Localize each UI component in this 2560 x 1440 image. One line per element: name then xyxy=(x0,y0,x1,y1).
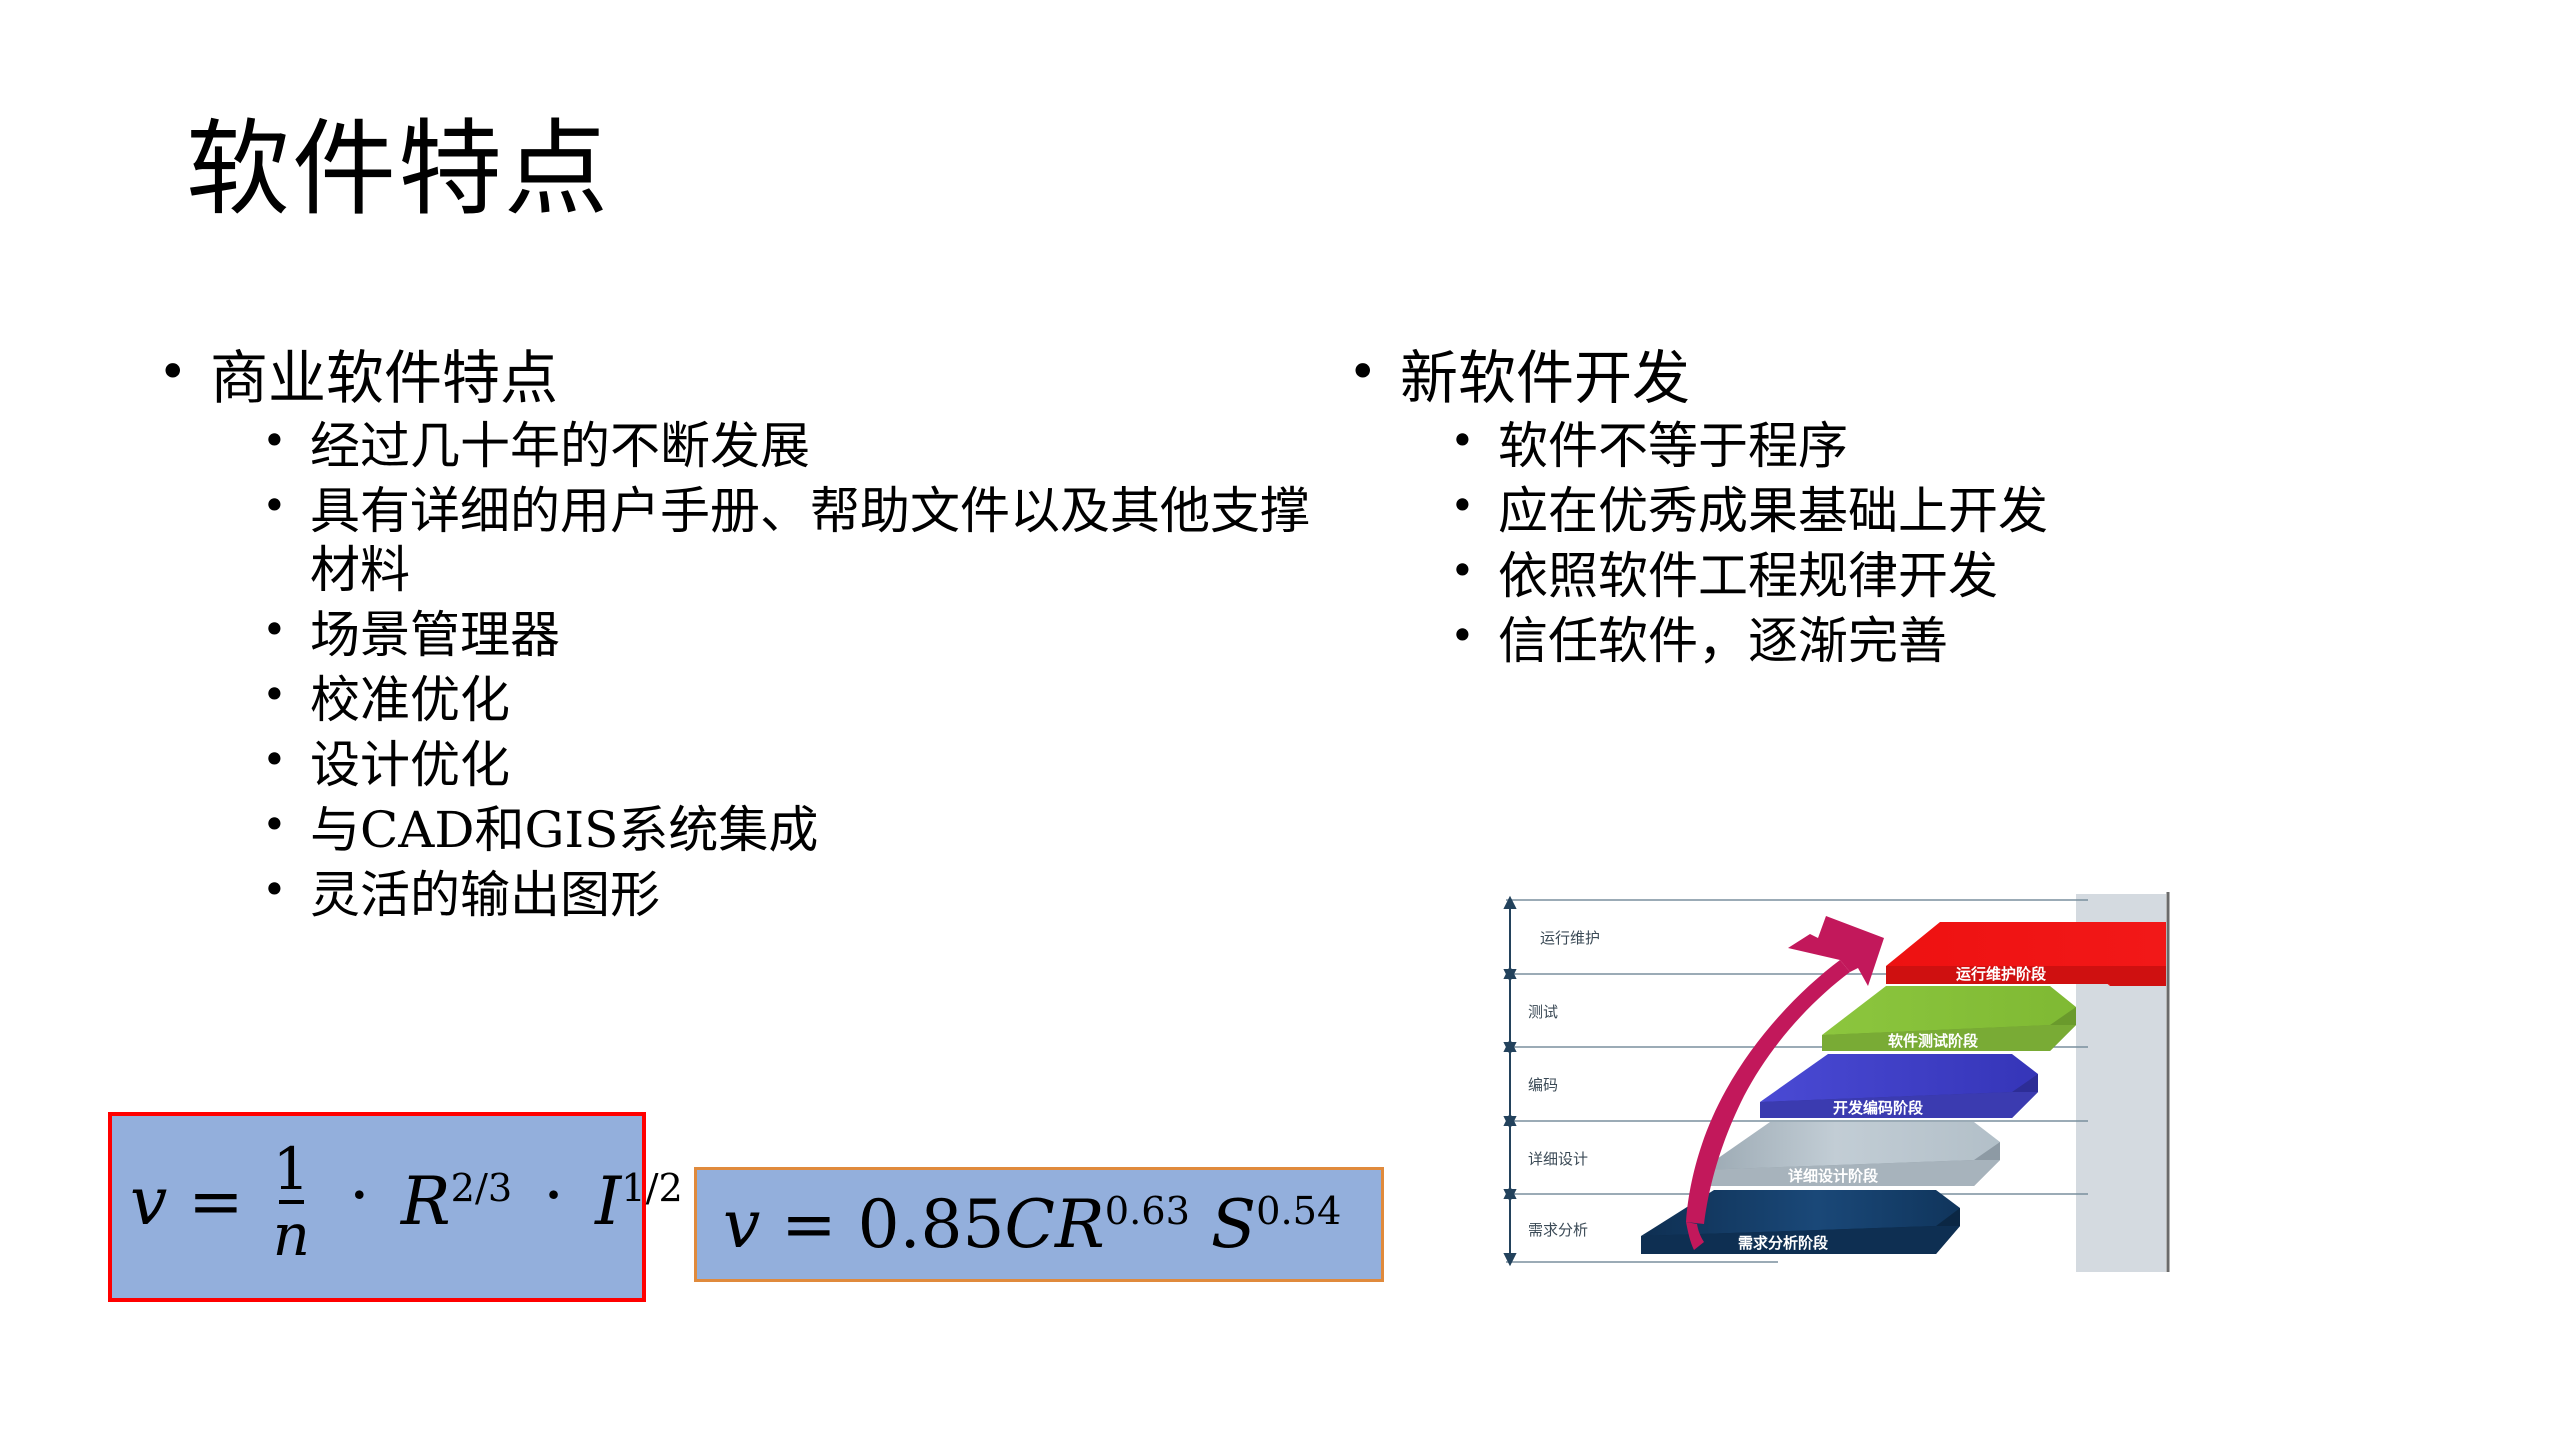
right-bullet-list: 新软件开发 软件不等于程序 应在优秀成果基础上开发 依照软件工程规律开发 信任软… xyxy=(1340,345,2340,671)
manning-v: v xyxy=(130,1163,167,1240)
stage-slab-detail-design: 详细设计阶段 xyxy=(1701,1122,2000,1186)
right-heading-bullet: 新软件开发 软件不等于程序 应在优秀成果基础上开发 依照软件工程规律开发 信任软… xyxy=(1340,345,2340,671)
manning-R: R xyxy=(401,1163,451,1240)
axis-label-1: 测试 xyxy=(1528,1003,1558,1021)
list-item: 信任软件，逐渐完善 xyxy=(1440,612,2340,671)
list-item: 灵活的输出图形 xyxy=(252,866,1330,925)
hazen-R-exponent: 0.63 xyxy=(1105,1189,1190,1234)
axis-label-0: 运行维护 xyxy=(1540,929,1600,947)
list-item: 场景管理器 xyxy=(252,606,1330,665)
stage-slab-maintenance: 运行维护阶段 xyxy=(1886,922,2166,986)
list-item: 具有详细的用户手册、帮助文件以及其他支撑材料 xyxy=(252,482,1330,600)
stage-label-requirements: 需求分析阶段 xyxy=(1738,1234,1828,1252)
manning-equals: = xyxy=(188,1163,243,1240)
list-item: 经过几十年的不断发展 xyxy=(252,417,1330,476)
manning-denominator: n xyxy=(273,1206,310,1265)
hazen-S: S xyxy=(1211,1186,1256,1263)
left-sub-bullet-list: 经过几十年的不断发展 具有详细的用户手册、帮助文件以及其他支撑材料 场景管理器 … xyxy=(252,417,1330,925)
hazen-v: v xyxy=(723,1186,760,1263)
manning-dot-2: · xyxy=(543,1157,564,1234)
hazen-formula-expression: v = 0.85CR0.63 S0.54 xyxy=(723,1186,1341,1263)
hazen-williams-formula-box: v = 0.85CR0.63 S0.54 xyxy=(694,1167,1384,1282)
page-title: 软件特点 xyxy=(186,112,610,226)
list-item: 依照软件工程规律开发 xyxy=(1440,547,2340,606)
left-content-column: 商业软件特点 经过几十年的不断发展 具有详细的用户手册、帮助文件以及其他支撑材料… xyxy=(150,345,1330,927)
stage-slab-coding: 开发编码阶段 xyxy=(1760,1054,2038,1118)
right-heading-label: 新软件开发 xyxy=(1400,345,2340,411)
stage-label-testing: 软件测试阶段 xyxy=(1888,1032,1978,1050)
manning-I-exponent: 1/2 xyxy=(621,1166,683,1211)
manning-formula-box: v = 1 n · R2/3 · I1/2 xyxy=(108,1112,646,1302)
manning-R-exponent: 2/3 xyxy=(451,1166,513,1211)
manning-I: I xyxy=(595,1163,621,1240)
left-heading-label: 商业软件特点 xyxy=(210,345,1330,411)
hazen-R: R xyxy=(1055,1186,1105,1263)
list-item: 设计优化 xyxy=(252,736,1330,795)
list-item: 应在优秀成果基础上开发 xyxy=(1440,482,2340,541)
hazen-S-exponent: 0.54 xyxy=(1256,1189,1341,1234)
axis-label-3: 详细设计 xyxy=(1528,1150,1588,1168)
list-item: 软件不等于程序 xyxy=(1440,417,2340,476)
list-item: 校准优化 xyxy=(252,671,1330,730)
manning-numerator: 1 xyxy=(273,1141,310,1198)
left-heading-bullet: 商业软件特点 经过几十年的不断发展 具有详细的用户手册、帮助文件以及其他支撑材料… xyxy=(150,345,1330,925)
manning-fraction: 1 n xyxy=(273,1141,310,1265)
diagram-axis-labels: 运行维护 测试 编码 详细设计 需求分析 xyxy=(1528,929,1600,1239)
stage-label-coding: 开发编码阶段 xyxy=(1833,1099,1923,1117)
hazen-equals: = xyxy=(781,1186,836,1263)
hazen-C: C xyxy=(1005,1186,1056,1263)
diagram-measure-axis xyxy=(1505,898,1515,1264)
list-item: 与CAD和GIS系统集成 xyxy=(252,801,1330,860)
hazen-coefficient: 0.85 xyxy=(858,1186,1005,1263)
software-lifecycle-diagram-image: 运行维护 测试 编码 详细设计 需求分析 需求分析阶段 详细设计阶段 开发编码阶… xyxy=(1488,890,2196,1275)
right-content-column: 新软件开发 软件不等于程序 应在优秀成果基础上开发 依照软件工程规律开发 信任软… xyxy=(1340,345,2340,673)
axis-label-2: 编码 xyxy=(1528,1076,1558,1094)
manning-formula-expression: v = 1 n · R2/3 · I1/2 xyxy=(130,1145,683,1269)
stage-label-detail-design: 详细设计阶段 xyxy=(1788,1167,1878,1185)
stage-label-maintenance: 运行维护阶段 xyxy=(1956,965,2046,983)
right-sub-bullet-list: 软件不等于程序 应在优秀成果基础上开发 依照软件工程规律开发 信任软件，逐渐完善 xyxy=(1440,417,2340,671)
stage-slab-testing: 软件测试阶段 xyxy=(1822,986,2076,1051)
axis-label-4: 需求分析 xyxy=(1528,1221,1588,1239)
left-bullet-list: 商业软件特点 经过几十年的不断发展 具有详细的用户手册、帮助文件以及其他支撑材料… xyxy=(150,345,1330,925)
manning-dot-1: · xyxy=(349,1157,370,1234)
